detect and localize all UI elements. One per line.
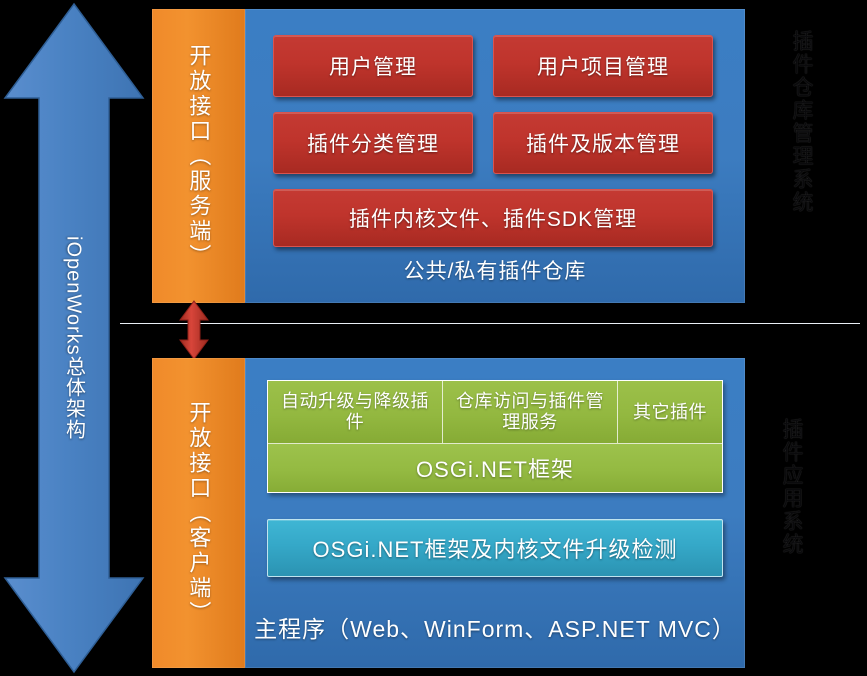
open-api-server-bar[interactable]: 开放接口（服务端） <box>152 9 245 303</box>
side-caption-server-label: 插件仓库管理系统 <box>786 30 816 214</box>
side-caption-server: 插件仓库管理系统 <box>778 30 824 240</box>
client-application-panel: 自动升级与降级插件 仓库访问与插件管理服务 其它插件 OSGi.NET框架 OS… <box>245 358 745 668</box>
box-plugin-category-management[interactable]: 插件分类管理 <box>273 112 473 174</box>
osgi-net-framework-label: OSGi.NET框架 <box>416 452 574 484</box>
box-osgi-kernel-upgrade-check[interactable]: OSGi.NET框架及内核文件升级检测 <box>267 519 723 577</box>
server-repository-panel: 用户管理 用户项目管理 插件分类管理 插件及版本管理 插件内核文件、插件SDK管… <box>245 9 745 303</box>
side-caption-client: 插件应用系统 <box>768 418 814 598</box>
osgi-net-framework-bar[interactable]: OSGi.NET框架 <box>268 443 722 492</box>
cell-repository-access-plugin-service-label: 仓库访问与插件管理服务 <box>447 391 613 432</box>
cell-auto-upgrade-downgrade-plugin-label: 自动升级与降级插件 <box>272 391 438 432</box>
open-api-client-bar[interactable]: 开放接口（客户端） <box>152 358 245 668</box>
box-user-project-management-label: 用户项目管理 <box>537 51 669 81</box>
repository-caption: 公共/私有插件仓库 <box>245 255 745 285</box>
connector-arrow-shape <box>178 300 210 360</box>
box-user-management[interactable]: 用户管理 <box>273 35 473 97</box>
cell-repository-access-plugin-service[interactable]: 仓库访问与插件管理服务 <box>443 381 618 443</box>
host-application-caption: 主程序（Web、WinForm、ASP.NET MVC） <box>245 610 745 644</box>
cell-other-plugins[interactable]: 其它插件 <box>618 381 722 443</box>
side-caption-client-label: 插件应用系统 <box>776 418 806 556</box>
box-plugin-category-management-label: 插件分类管理 <box>307 128 439 158</box>
box-plugin-version-management[interactable]: 插件及版本管理 <box>493 112 713 174</box>
box-osgi-kernel-upgrade-check-label: OSGi.NET框架及内核文件升级检测 <box>313 532 678 564</box>
open-api-server-label: 开放接口（服务端） <box>187 44 211 269</box>
box-plugin-version-management-label: 插件及版本管理 <box>526 128 680 158</box>
cell-other-plugins-label: 其它插件 <box>633 402 707 423</box>
server-client-connector-arrow <box>178 300 210 360</box>
plugin-framework-stack: 自动升级与降级插件 仓库访问与插件管理服务 其它插件 OSGi.NET框架 <box>267 380 723 493</box>
overall-architecture-arrow: iOpenWorks总体架构 <box>3 2 145 674</box>
cell-auto-upgrade-downgrade-plugin[interactable]: 自动升级与降级插件 <box>268 381 443 443</box>
overall-arrow-shape <box>3 2 145 674</box>
box-plugin-kernel-sdk-management[interactable]: 插件内核文件、插件SDK管理 <box>273 189 713 247</box>
box-user-project-management[interactable]: 用户项目管理 <box>493 35 713 97</box>
box-plugin-kernel-sdk-management-label: 插件内核文件、插件SDK管理 <box>349 203 637 233</box>
section-divider-line <box>120 323 860 324</box>
open-api-client-label: 开放接口（客户端） <box>187 401 211 626</box>
plugin-cells-row: 自动升级与降级插件 仓库访问与插件管理服务 其它插件 <box>268 381 722 443</box>
box-user-management-label: 用户管理 <box>329 51 417 81</box>
